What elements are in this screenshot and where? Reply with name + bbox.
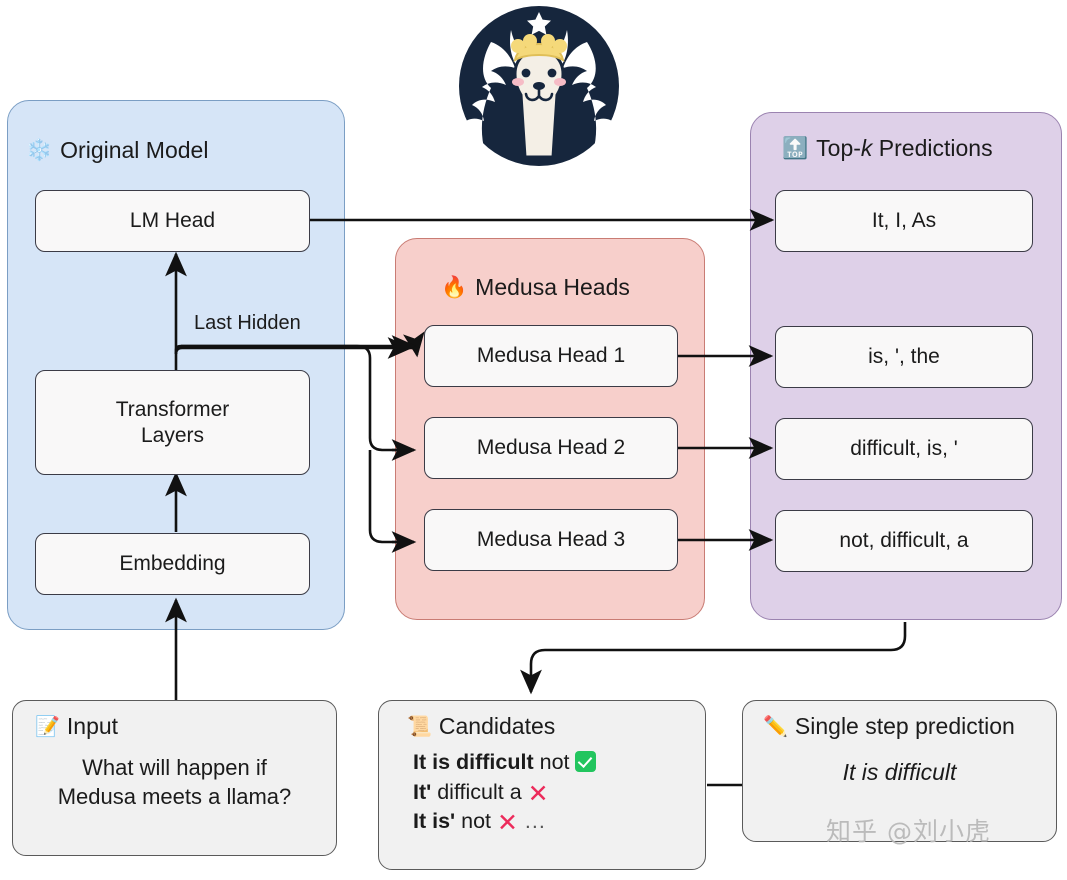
watermark: 知乎 @刘小虎	[826, 812, 991, 848]
list-item: It is' not ✕ ...	[413, 807, 705, 837]
node-medusa-head-3[interactable]: Medusa Head 3	[424, 509, 678, 571]
node-label: Medusa Head 2	[477, 435, 625, 461]
snowflake-icon: ❄️	[26, 140, 52, 161]
top-arrow-icon: 🔝	[782, 138, 808, 159]
input-text: What will happen if Medusa meets a llama…	[58, 754, 292, 811]
input-text-line1: What will happen if	[58, 754, 292, 783]
candidate-accepted-prefix: It'	[413, 780, 431, 804]
card-candidates-header: 📜 Candidates	[407, 715, 555, 738]
node-label-line1: Transformer	[116, 397, 230, 423]
single-step-prediction-text: It is difficult	[843, 758, 957, 786]
candidate-rest: not	[534, 750, 576, 774]
node-label: It, I, As	[872, 208, 936, 234]
candidate-accepted-prefix: It is difficult	[413, 750, 534, 774]
node-label: not, difficult, a	[839, 528, 968, 554]
node-prediction-1[interactable]: It, I, As	[775, 190, 1033, 252]
node-label: LM Head	[130, 208, 215, 234]
node-label: difficult, is, '	[850, 436, 958, 462]
list-item: It is difficult not	[413, 748, 705, 778]
node-lm-head[interactable]: LM Head	[35, 190, 310, 252]
card-single-step-header: ✏️ Single step prediction	[763, 715, 1015, 738]
cross-icon: ✕	[497, 811, 518, 836]
card-input[interactable]: 📝 Input What will happen if Medusa meets…	[12, 700, 337, 856]
diagram-canvas: ❄️ Original Model 🔥 Medusa Heads 🔝 Top-k…	[0, 0, 1067, 880]
memo-icon: 📝	[35, 717, 60, 737]
node-medusa-head-2[interactable]: Medusa Head 2	[424, 417, 678, 479]
node-prediction-4[interactable]: not, difficult, a	[775, 510, 1033, 572]
node-medusa-head-1[interactable]: Medusa Head 1	[424, 325, 678, 387]
node-transformer-layers[interactable]: Transformer Layers	[35, 370, 310, 475]
candidate-list: It is difficult not It' difficult a ✕ It…	[379, 748, 705, 837]
node-label: Medusa Head 3	[477, 527, 625, 553]
node-label: Embedding	[119, 551, 225, 577]
group-title-original-model: ❄️ Original Model	[26, 139, 208, 162]
candidate-rest: difficult a	[431, 780, 527, 804]
node-label-line2: Layers	[141, 423, 204, 449]
candidate-accepted-prefix: It is'	[413, 809, 455, 833]
medusa-llama-logo	[455, 2, 623, 170]
fire-icon: 🔥	[441, 277, 467, 298]
scroll-icon: 📜	[407, 717, 432, 737]
node-embedding[interactable]: Embedding	[35, 533, 310, 595]
group-title-label: Top-k Predictions	[816, 137, 992, 160]
check-icon	[575, 751, 596, 772]
node-label: is, ', the	[868, 344, 940, 370]
cross-icon: ✕	[528, 782, 549, 807]
card-input-header: 📝 Input	[35, 715, 118, 738]
node-label: Medusa Head 1	[477, 343, 625, 369]
group-title-label: Original Model	[60, 139, 208, 162]
group-title-label: Medusa Heads	[475, 276, 630, 299]
card-title: Candidates	[439, 715, 555, 738]
group-title-medusa-heads: 🔥 Medusa Heads	[441, 276, 630, 299]
node-prediction-3[interactable]: difficult, is, '	[775, 418, 1033, 480]
list-item: It' difficult a ✕	[413, 778, 705, 808]
candidate-ellipsis: ...	[518, 809, 546, 833]
candidate-rest: not	[455, 809, 497, 833]
pencil-icon: ✏️	[763, 717, 788, 737]
card-title: Single step prediction	[795, 715, 1015, 738]
group-title-topk-predictions: 🔝 Top-k Predictions	[782, 137, 993, 160]
card-title: Input	[67, 715, 118, 738]
card-candidates[interactable]: 📜 Candidates It is difficult not It' dif…	[378, 700, 706, 870]
node-prediction-2[interactable]: is, ', the	[775, 326, 1033, 388]
input-text-line2: Medusa meets a llama?	[58, 783, 292, 812]
edge-label-last-hidden: Last Hidden	[194, 312, 301, 335]
